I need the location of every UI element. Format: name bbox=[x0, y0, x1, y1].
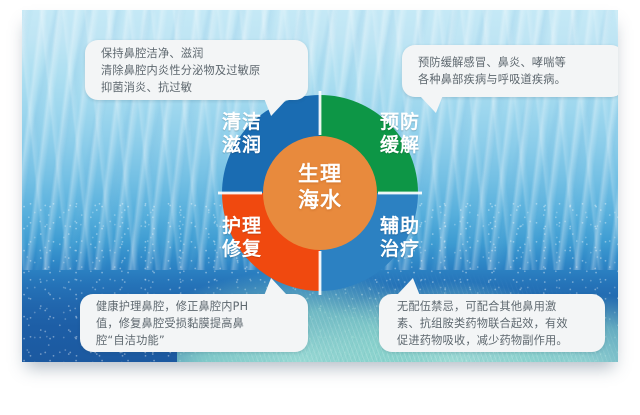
benefit-wheel: 清洁 滋润 预防 缓解 辅助 治疗 护理 修复 生理 海水 bbox=[200, 73, 440, 313]
callout-prevent-text: 预防缓解感冒、鼻炎、哮喘等 各种鼻部疾病与呼吸道疾病。 bbox=[418, 54, 612, 88]
callout-prevent: 预防缓解感冒、鼻炎、哮喘等 各种鼻部疾病与呼吸道疾病。 bbox=[402, 45, 618, 97]
wheel-label-clean: 清洁 滋润 bbox=[222, 111, 300, 157]
wheel-divider-vertical bbox=[319, 91, 322, 135]
poster-root: 清洁 滋润 预防 缓解 辅助 治疗 护理 修复 生理 海水 保持鼻腔洁净、滋润 … bbox=[0, 0, 640, 415]
callout-care-text: 健康护理鼻腔，修正鼻腔内PH 值，修复鼻腔受损黏膜提高鼻 腔“自洁功能” bbox=[96, 298, 296, 349]
wheel-label-care: 护理 修复 bbox=[222, 215, 300, 261]
callout-clean-text: 保持鼻腔洁净、滋润 清除鼻腔内炎性分泌物及过敏原 抑菌消炎、抗过敏 bbox=[101, 45, 296, 96]
wheel-divider-vertical-bottom bbox=[319, 251, 322, 295]
callout-clean: 保持鼻腔洁净、滋润 清除鼻腔内炎性分泌物及过敏原 抑菌消炎、抗过敏 bbox=[85, 40, 308, 100]
callout-assist-text: 无配伍禁忌，可配合其他鼻用激 素、抗组胺类药物联合起效，有效 促进药物吸收，减少… bbox=[397, 298, 593, 349]
callout-care: 健康护理鼻腔，修正鼻腔内PH 值，修复鼻腔受损黏膜提高鼻 腔“自洁功能” bbox=[80, 294, 308, 352]
callout-clean-tail bbox=[260, 98, 288, 116]
wheel-center-label: 生理 海水 bbox=[200, 161, 440, 213]
callout-prevent-tail bbox=[419, 95, 447, 113]
poster-card: 清洁 滋润 预防 缓解 辅助 治疗 护理 修复 生理 海水 保持鼻腔洁净、滋润 … bbox=[22, 10, 618, 362]
wheel-label-assist: 辅助 治疗 bbox=[340, 215, 420, 261]
callout-assist-tail bbox=[396, 278, 424, 296]
callout-care-tail bbox=[260, 278, 288, 296]
wheel-label-prevent: 预防 缓解 bbox=[340, 111, 420, 157]
callout-assist: 无配伍禁忌，可配合其他鼻用激 素、抗组胺类药物联合起效，有效 促进药物吸收，减少… bbox=[379, 294, 605, 352]
